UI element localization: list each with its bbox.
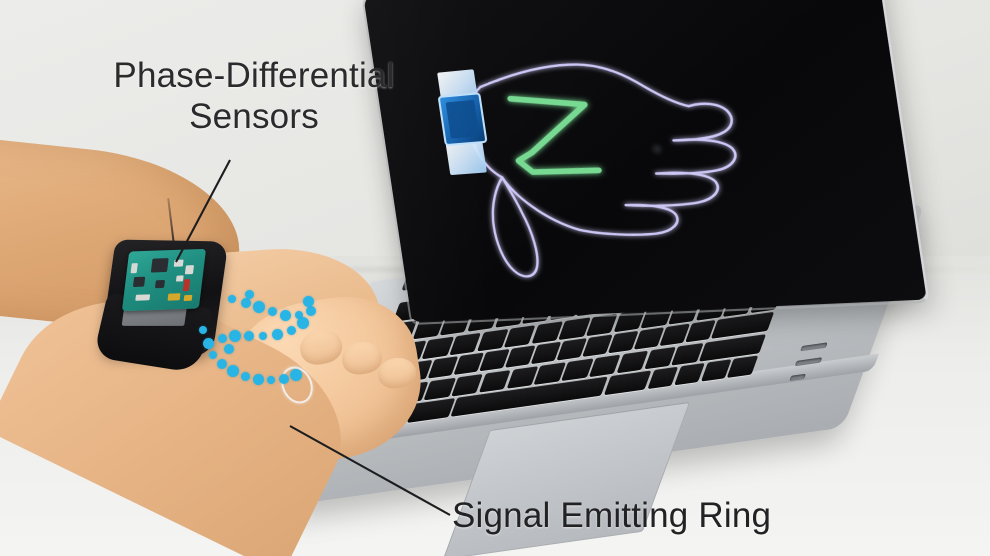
label-phase-differential-sensors: Phase-Differential Sensors	[84, 56, 424, 137]
laptop-display	[363, 0, 927, 322]
label-signal-emitting-ring: Signal Emitting Ring	[452, 496, 771, 537]
display-bezel	[363, 0, 927, 322]
port-usb	[795, 357, 823, 366]
macbook-pro	[370, 0, 990, 542]
screenshot-canvas: Phase-Differential Sensors Signal Emitti…	[0, 0, 990, 556]
port-hdmi	[789, 374, 806, 381]
sensor-pcb	[122, 249, 206, 311]
